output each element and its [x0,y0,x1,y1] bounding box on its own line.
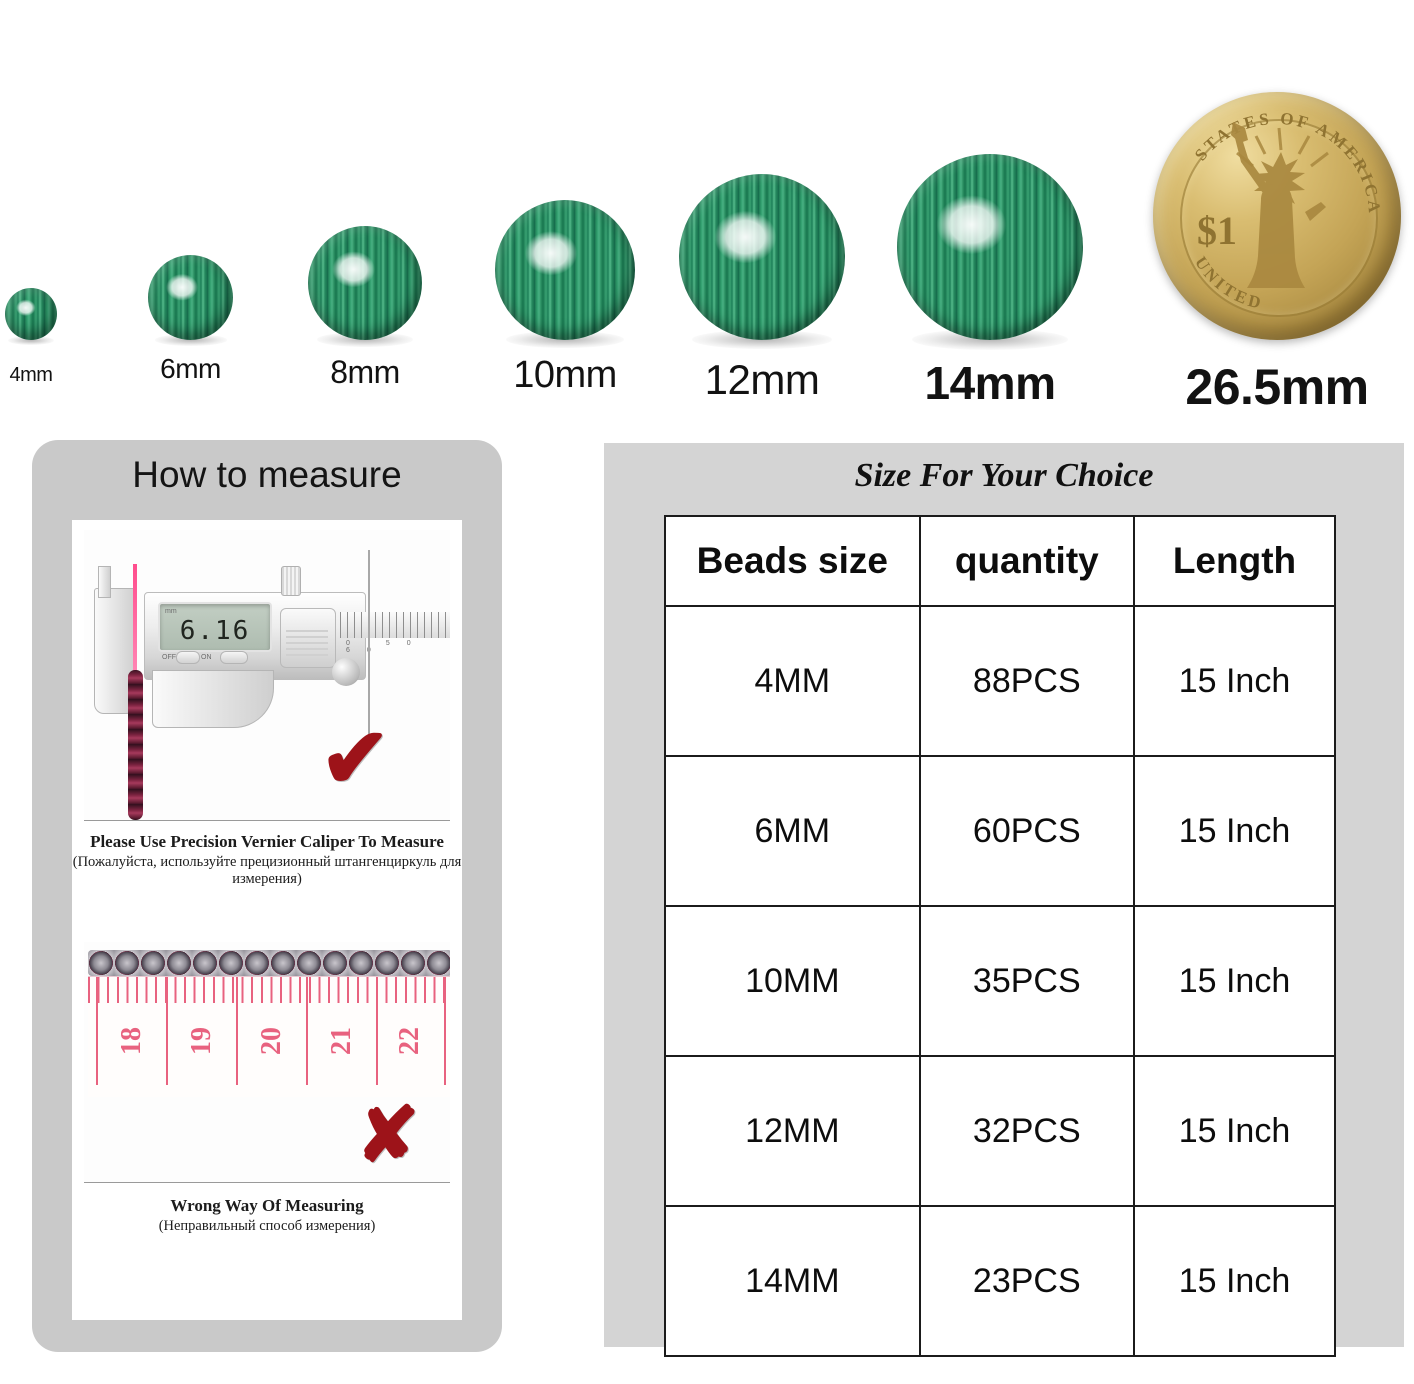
lcd-unit-badge: mm [165,608,177,615]
svg-text:$1: $1 [1197,208,1237,253]
cell-size: 4MM [665,606,920,756]
bead-item-6mm: 6mm [148,255,233,340]
malachite-bead-icon [495,200,635,340]
bead-label-12mm: 12mm [705,356,820,404]
tape-number-22: 22 [394,1021,426,1061]
caliper-scale [340,612,450,638]
cell-length: 15 Inch [1134,1206,1335,1356]
tape-major-tick [376,977,378,1085]
correct-caption-ru: (Пожалуйста, используйте прецизионный шт… [72,854,462,888]
caliper-off-button [176,651,200,664]
cell-length: 15 Inch [1134,906,1335,1056]
bead-label-10mm: 10mm [513,354,617,397]
caliper-photo: mm 6.16 OFF ON 0 50 60 ✔ [84,530,450,821]
cell-quantity: 32PCS [920,1056,1134,1206]
caliper-guide-line [133,564,137,676]
bead-item-12mm: 12mm [679,174,845,340]
malachite-bead-icon [897,154,1083,340]
header-beads-size: Beads size [665,516,920,606]
table-row: 12MM 32PCS 15 Inch [665,1056,1335,1206]
wrong-caption-en: Wrong Way Of Measuring [72,1196,462,1216]
cell-length: 15 Inch [1134,756,1335,906]
cell-quantity: 35PCS [920,906,1134,1056]
caliper-moving-jaw [152,670,274,728]
cell-quantity: 88PCS [920,606,1134,756]
size-table-title: Size For Your Choice [604,457,1404,495]
bead-item-10mm: 10mm [495,200,635,340]
size-table-panel: Size For Your Choice Beads size quantity… [604,443,1404,1347]
metal-bead-strand [88,950,450,976]
wrong-method-caption: Wrong Way Of Measuring (Неправильный спо… [72,1196,462,1235]
correct-caption-en: Please Use Precision Vernier Caliper To … [72,832,462,852]
table-header-row: Beads size quantity Length [665,516,1335,606]
us-dollar-coin-icon: STATES OF AMERICA UNITED [1153,92,1401,340]
cell-quantity: 60PCS [920,756,1134,906]
bead-label-14mm: 14mm [925,356,1056,410]
bead-item-coin-26-5mm: STATES OF AMERICA UNITED [1153,92,1401,340]
caliper-thumb-wheel [281,566,301,596]
bead-strand [128,670,143,820]
caliper-reading: 6.16 [160,616,270,646]
tape-major-tick [166,977,168,1085]
bead-label-4mm: 4mm [10,364,53,387]
correct-method-caption: Please Use Precision Vernier Caliper To … [72,832,462,888]
bead-label-coin: 26.5mm [1185,358,1368,416]
tape-major-tick [236,977,238,1085]
malachite-bead-icon [148,255,233,340]
bead-item-14mm: 14mm [897,154,1083,340]
caliper-grip-ribs [286,630,328,656]
bead-size-comparison-row: 4mm 6mm 8mm 10mm 12mm [0,0,1414,400]
cell-length: 15 Inch [1134,1056,1335,1206]
wrong-caption-ru: (Неправильный способ измерения) [72,1218,462,1235]
correct-method-card: mm 6.16 OFF ON 0 50 60 ✔ Please Use Prec… [72,520,462,960]
bead-label-8mm: 8mm [330,354,400,391]
table-row: 14MM 23PCS 15 Inch [665,1206,1335,1356]
tape-measure-photo: 18 19 20 21 22 ✘ [84,942,450,1183]
table-row: 6MM 60PCS 15 Inch [665,756,1335,906]
bead-item-4mm: 4mm [5,288,57,340]
caliper-scale-numbers: 0 50 60 [346,640,450,654]
cell-size: 6MM [665,756,920,906]
caliper-zero-button [220,651,248,664]
tape-ticks [88,977,450,1003]
how-to-measure-panel: How to measure mm 6.16 OFF ON [32,440,502,1352]
size-table: Beads size quantity Length 4MM 88PCS 15 … [664,515,1336,1357]
bead-label-6mm: 6mm [160,353,221,385]
table-row: 4MM 88PCS 15 Inch [665,606,1335,756]
tape-number-20: 20 [256,1021,288,1061]
caliper-off-label: OFF [162,654,176,661]
header-length: Length [1134,516,1335,606]
wrong-method-card: 18 19 20 21 22 ✘ Wrong Way Of Measuring … [72,932,462,1320]
tape-number-21: 21 [326,1021,358,1061]
table-row: 10MM 35PCS 15 Inch [665,906,1335,1056]
tape-measure: 18 19 20 21 22 [88,976,450,1097]
caliper-upper-blade [98,566,111,598]
tape-major-tick [96,977,98,1085]
header-quantity: quantity [920,516,1134,606]
malachite-bead-icon [5,288,57,340]
cell-size: 10MM [665,906,920,1056]
tape-number-18: 18 [116,1021,148,1061]
how-to-measure-title: How to measure [32,454,502,496]
tape-major-tick [306,977,308,1085]
tape-number-19: 19 [186,1021,218,1061]
cell-size: 12MM [665,1056,920,1206]
caliper-lcd-screen: mm 6.16 [158,602,272,652]
cell-length: 15 Inch [1134,606,1335,756]
malachite-bead-icon [308,226,422,340]
statue-of-liberty-icon: STATES OF AMERICA UNITED [1153,92,1401,340]
cell-size: 14MM [665,1206,920,1356]
check-icon: ✔ [320,716,390,800]
cross-icon: ✘ [356,1098,420,1174]
bead-item-8mm: 8mm [308,226,422,340]
malachite-bead-icon [679,174,845,340]
caliper-on-label: ON [201,654,212,661]
tape-major-tick [444,977,446,1085]
caliper-rivet [332,658,360,686]
cell-quantity: 23PCS [920,1206,1134,1356]
